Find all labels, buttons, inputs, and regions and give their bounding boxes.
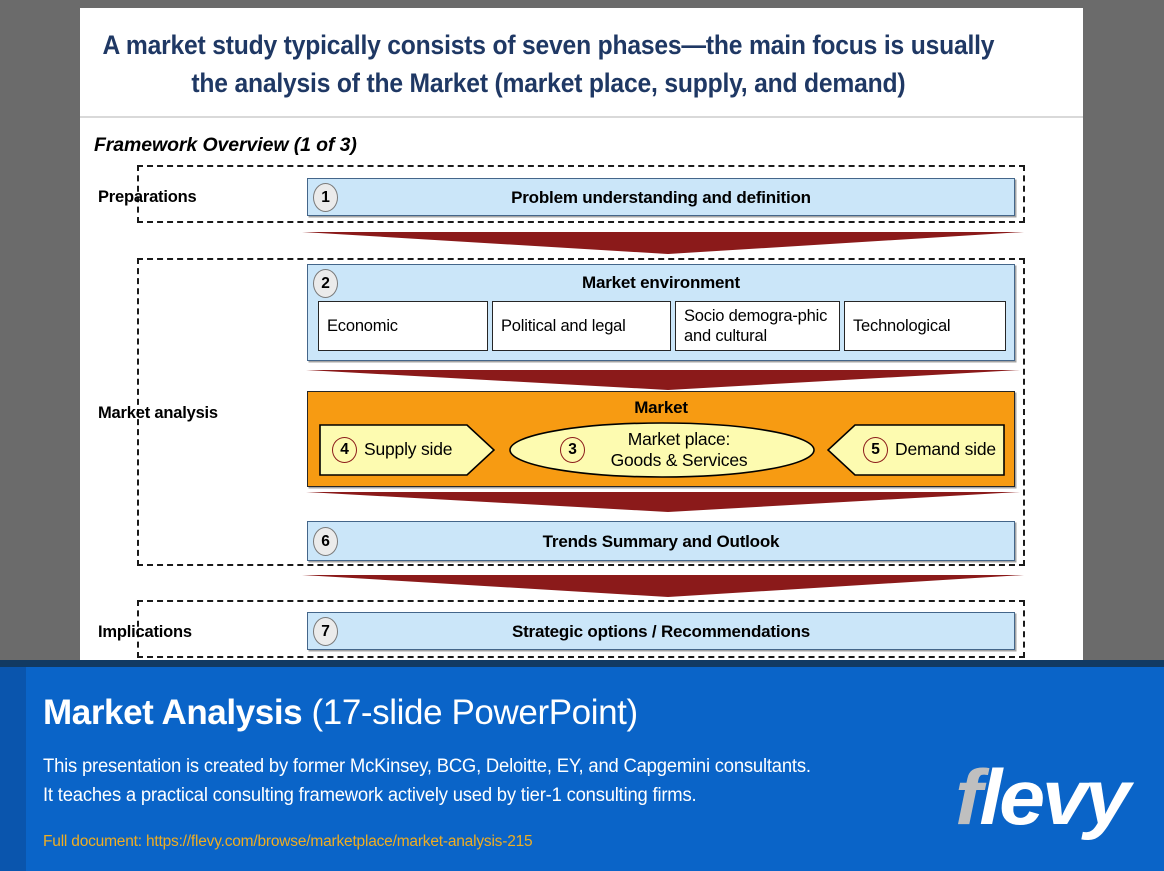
group-label-market-analysis: Market analysis — [98, 404, 218, 423]
banner-description: This presentation is created by former M… — [43, 752, 819, 810]
flow-arrow-1 — [302, 232, 1024, 254]
flevy-logo-levy: levy — [979, 753, 1127, 841]
banner-top-strip — [0, 660, 1164, 667]
banner-left-strip — [0, 667, 26, 871]
supply-side-label: Supply side — [364, 439, 452, 460]
demand-side-label: Demand side — [895, 439, 996, 460]
group-label-preparations: Preparations — [98, 188, 196, 207]
slide-card: A market study typically consists of sev… — [80, 8, 1083, 660]
demand-side-shape[interactable]: 5 Demand side — [827, 424, 1005, 476]
phase-label-1: Problem understanding and definition — [308, 188, 1014, 208]
phase-number-4: 4 — [332, 437, 357, 463]
banner-document-url[interactable]: Full document: https://flevy.com/browse/… — [43, 833, 532, 851]
phase-box-7[interactable]: 7 Strategic options / Recommendations — [307, 612, 1015, 650]
market-environment-factor-socio-demographic[interactable]: Socio demogra-phic and cultural — [675, 301, 840, 351]
phase-label-2: Market environment — [308, 273, 1014, 293]
market-band-label: Market — [308, 398, 1014, 418]
market-place-line-1: Market place: — [579, 429, 779, 450]
supply-side-shape[interactable]: 4 Supply side — [319, 424, 495, 476]
banner-title-bold: Market Analysis — [43, 693, 302, 732]
flow-arrow-2 — [306, 370, 1020, 390]
flow-arrow-4 — [302, 575, 1024, 597]
market-place-label: Market place: Goods & Services — [579, 429, 779, 471]
phase-label-6: Trends Summary and Outlook — [308, 532, 1014, 552]
market-place-shape[interactable]: 3 Market place: Goods & Services — [509, 422, 815, 478]
flevy-logo-f: f — [955, 753, 979, 841]
phase-number-5: 5 — [863, 437, 888, 463]
market-environment-factor-political-legal[interactable]: Political and legal — [492, 301, 671, 351]
market-environment-factor-economic[interactable]: Economic — [318, 301, 488, 351]
group-label-implications: Implications — [98, 623, 192, 642]
phase-box-2[interactable]: 2 Market environment Economic Political … — [307, 264, 1015, 361]
framework-diagram: Preparations 1 Problem understanding and… — [80, 8, 1083, 660]
market-place-line-2: Goods & Services — [579, 450, 779, 471]
flevy-logo: flevy — [955, 758, 1128, 836]
phase-box-6[interactable]: 6 Trends Summary and Outlook — [307, 521, 1015, 561]
phase-box-1[interactable]: 1 Problem understanding and definition — [307, 178, 1015, 216]
market-environment-factor-technological[interactable]: Technological — [844, 301, 1006, 351]
phase-label-7: Strategic options / Recommendations — [308, 622, 1014, 642]
screenshot-root: A market study typically consists of sev… — [0, 0, 1164, 871]
banner-title-light: (17-slide PowerPoint) — [302, 693, 638, 732]
flow-arrow-3 — [306, 492, 1020, 512]
banner-title: Market Analysis (17-slide PowerPoint) — [43, 693, 638, 733]
market-band[interactable]: Market 4 Supply side 3 Market — [307, 391, 1015, 487]
